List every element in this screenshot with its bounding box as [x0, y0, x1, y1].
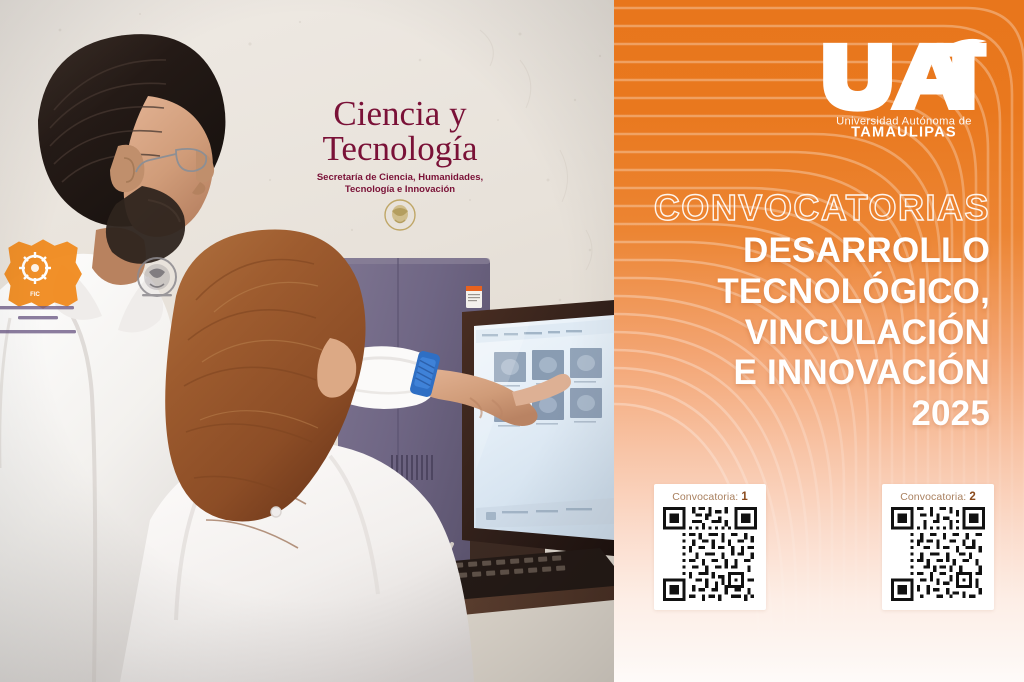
headline-line-desarrollo: DESARROLLO: [614, 231, 990, 272]
poster: Ciencia y Tecnología Secretaría de Cienc…: [0, 0, 1024, 682]
qr-code-row: Convocatoria: 1: [614, 484, 1024, 610]
headline-solid-lines: DESARROLLO TECNOLÓGICO, VINCULACIÓN E IN…: [614, 231, 990, 436]
headline-line-year: 2025: [614, 394, 990, 435]
orange-info-panel: Universidad Autónoma de TAMAULIPAS CONVO…: [614, 0, 1024, 682]
headline-outline-convocatorias: CONVOCATORIAS: [614, 189, 990, 227]
laboratory-photo: Ciencia y Tecnología Secretaría de Cienc…: [0, 0, 614, 682]
qr-label-word-2: Convocatoria:: [900, 491, 966, 503]
headline-line-innovacion: E INNOVACIÓN: [614, 353, 990, 394]
qr-label-word-1: Convocatoria:: [672, 491, 738, 503]
headline-line-vinculacion: VINCULACIÓN: [614, 313, 990, 354]
qr-card-convocatoria-1[interactable]: Convocatoria: 1: [654, 484, 766, 610]
qr-label-number-2: 2: [969, 491, 976, 503]
qr-image-1[interactable]: [663, 507, 757, 601]
logo-subtitle-line2: TAMAULIPAS: [851, 125, 957, 138]
qr-card-convocatoria-2[interactable]: Convocatoria: 2: [882, 484, 994, 610]
qr-label-2: Convocatoria: 2: [891, 491, 985, 503]
qr-image-2[interactable]: [891, 507, 985, 601]
qr-label-1: Convocatoria: 1: [663, 491, 757, 503]
qr-label-number-1: 1: [741, 491, 748, 503]
uat-logo: Universidad Autónoma de TAMAULIPAS: [614, 36, 1024, 137]
headline-line-tecnologico: TECNOLÓGICO,: [614, 272, 990, 313]
headline-block: CONVOCATORIAS DESARROLLO TECNOLÓGICO, VI…: [614, 189, 1024, 435]
